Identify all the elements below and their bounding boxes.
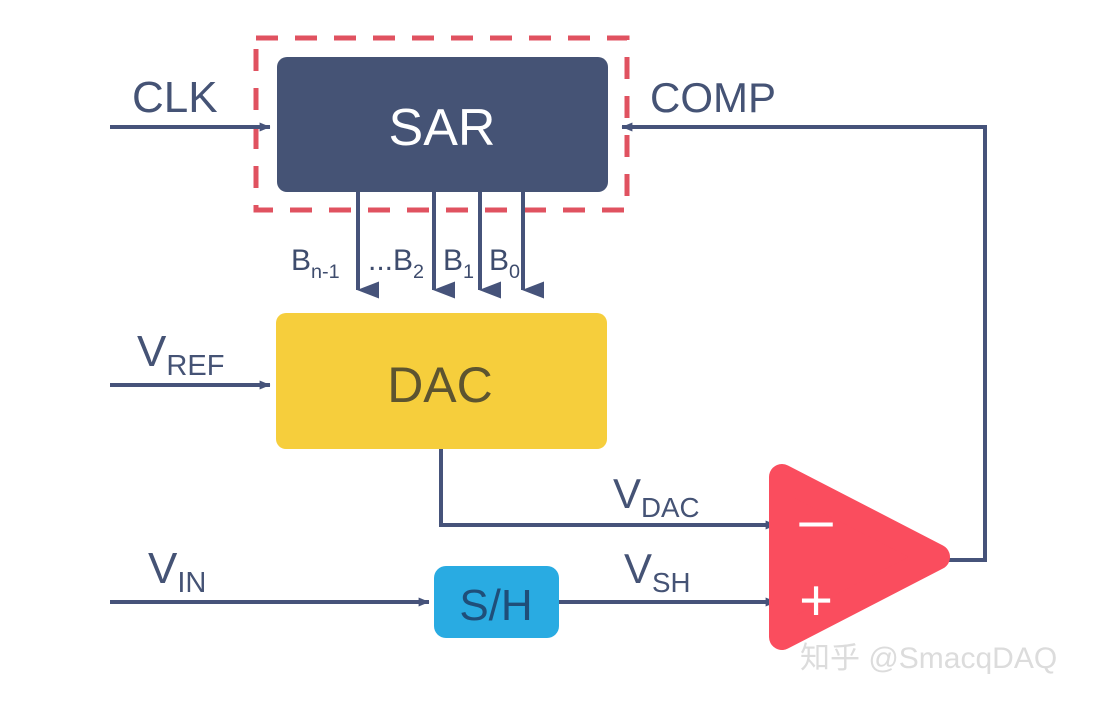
- bit-label-b1: B1: [443, 244, 474, 283]
- bit-label-b0-main: B: [489, 244, 509, 277]
- sar-adc-block-diagram: SAR CLK COMP Bn-1 ...B2 B1 B0 VREF: [0, 0, 1097, 704]
- bit-label-b2-sub: 2: [413, 261, 424, 283]
- vsh-label-main: V: [624, 545, 652, 592]
- sample-hold-block-label: S/H: [459, 581, 532, 630]
- bit-label-b1-main: B: [443, 244, 463, 277]
- comparator-minus-terminal: –: [799, 486, 833, 553]
- vref-label: VREF: [137, 327, 224, 382]
- clk-label: CLK: [132, 73, 218, 122]
- vsh-label-sub: SH: [652, 567, 691, 598]
- vin-label-main: V: [148, 544, 178, 593]
- vref-label-sub: REF: [166, 350, 224, 382]
- bit-label-bn1-sub: n-1: [311, 261, 340, 283]
- sar-block-label: SAR: [389, 99, 496, 157]
- vdac-label: VDAC: [613, 470, 700, 523]
- vsh-label: VSH: [624, 545, 691, 598]
- vdac-label-main: V: [613, 470, 641, 517]
- vdac-output-line: [441, 449, 776, 525]
- watermark-label: 知乎 @SmacqDAQ: [800, 642, 1057, 675]
- comparator-plus-terminal: +: [799, 568, 833, 633]
- vdac-label-sub: DAC: [641, 492, 700, 523]
- vref-label-main: V: [137, 327, 167, 376]
- vin-label: VIN: [148, 544, 206, 599]
- bit-label-b0: B0: [489, 244, 520, 283]
- bit-label-b2-main: ...B: [368, 244, 413, 277]
- dac-block-label: DAC: [387, 357, 493, 413]
- bit-label-b2: ...B2: [368, 244, 424, 283]
- vin-label-sub: IN: [177, 567, 206, 599]
- diagram-canvas: SAR CLK COMP Bn-1 ...B2 B1 B0 VREF: [0, 0, 1097, 704]
- comp-label: COMP: [650, 74, 776, 121]
- bit-label-b0-sub: 0: [509, 261, 520, 283]
- bit-label-bn1-main: B: [291, 244, 311, 277]
- bit-label-b1-sub: 1: [463, 261, 474, 283]
- bit-label-bn1: Bn-1: [291, 244, 340, 283]
